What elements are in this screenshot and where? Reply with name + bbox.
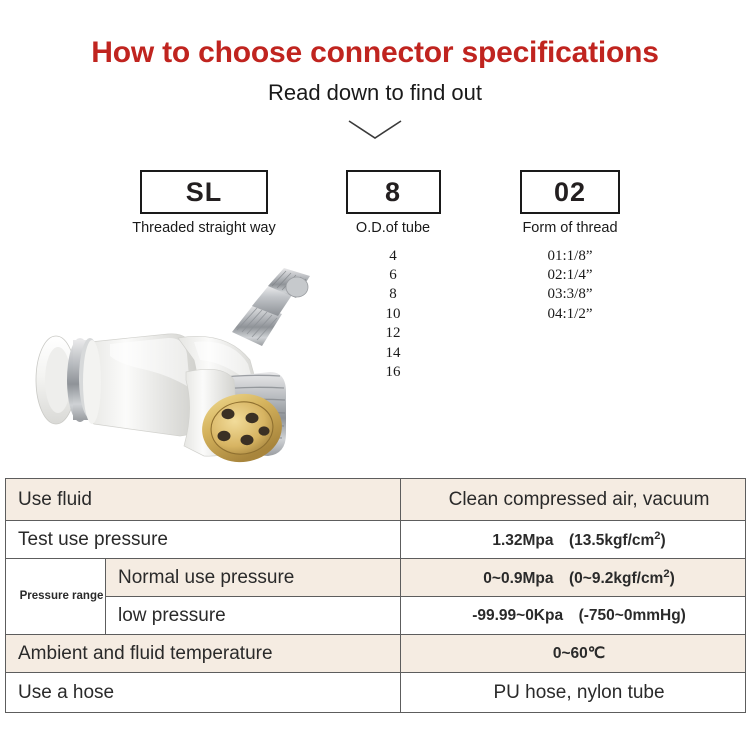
spec-label-hose: Use a hose bbox=[6, 673, 401, 713]
value-main: 0~0.9Mpa (0~9.2kgf/cm bbox=[483, 570, 663, 587]
option-tube-od-2[interactable]: 8 bbox=[333, 285, 453, 304]
option-list-tube-od: 46810121416 bbox=[333, 247, 453, 383]
code-value-thread-form: 02 bbox=[554, 179, 586, 206]
option-tube-od-0[interactable]: 4 bbox=[333, 247, 453, 266]
specification-table: Use fluid Clean compressed air, vacuum T… bbox=[5, 478, 746, 713]
table-row: Use a hose PU hose, nylon tube bbox=[6, 673, 746, 713]
spec-value-use-fluid: Clean compressed air, vacuum bbox=[401, 479, 746, 521]
option-list-thread-form: 01:1/8”02:1/4”03:3/8”04:1/2” bbox=[505, 247, 635, 325]
option-tube-od-4[interactable]: 12 bbox=[333, 324, 453, 343]
code-value-series: SL bbox=[186, 179, 223, 206]
code-box-series[interactable]: SL bbox=[140, 170, 268, 214]
code-value-tube-od: 8 bbox=[385, 179, 401, 206]
table-row: Ambient and fluid temperature 0~60℃ bbox=[6, 635, 746, 673]
option-tube-od-3[interactable]: 10 bbox=[333, 305, 453, 324]
spec-group-label-pressure-range: Pressure range bbox=[6, 559, 106, 635]
spec-value-hose: PU hose, nylon tube bbox=[401, 673, 746, 713]
spec-value-test-pressure: 1.32Mpa (13.5kgf/cm2) bbox=[401, 521, 746, 559]
spec-value-low-pressure: -99.99~0Kpa (-750~0mmHg) bbox=[401, 597, 746, 635]
code-box-tube-od[interactable]: 8 bbox=[346, 170, 441, 214]
chevron-down-icon bbox=[0, 118, 750, 148]
page-title: How to choose connector specifications bbox=[0, 38, 750, 68]
value-main: 1.32Mpa (13.5kgf/cm bbox=[492, 532, 654, 549]
option-tube-od-1[interactable]: 6 bbox=[333, 266, 453, 285]
value-tail: ) bbox=[670, 570, 675, 587]
table-row: low pressure -99.99~0Kpa (-750~0mmHg) bbox=[6, 597, 746, 635]
table-row: Pressure range Normal use pressure 0~0.9… bbox=[6, 559, 746, 597]
spec-label-normal-pressure: Normal use pressure bbox=[106, 559, 401, 597]
option-thread-form-0[interactable]: 01:1/8” bbox=[505, 247, 635, 266]
page-subtitle: Read down to find out bbox=[0, 82, 750, 104]
spec-label-use-fluid: Use fluid bbox=[6, 479, 401, 521]
spec-value-temperature: 0~60℃ bbox=[401, 635, 746, 673]
code-column-tube-od: 8 O.D.of tube 46810121416 bbox=[333, 170, 453, 382]
spec-label-test-pressure: Test use pressure bbox=[6, 521, 401, 559]
table-row: Test use pressure 1.32Mpa (13.5kgf/cm2) bbox=[6, 521, 746, 559]
product-photo bbox=[18, 268, 328, 473]
option-thread-form-3[interactable]: 04:1/2” bbox=[505, 305, 635, 324]
value-tail: ) bbox=[661, 532, 666, 549]
code-label-series: Threaded straight way bbox=[116, 221, 292, 236]
code-label-thread-form: Form of thread bbox=[505, 221, 635, 236]
code-column-series: SL Threaded straight way bbox=[116, 170, 292, 236]
option-tube-od-6[interactable]: 16 bbox=[333, 363, 453, 382]
code-column-thread-form: 02 Form of thread 01:1/8”02:1/4”03:3/8”0… bbox=[505, 170, 635, 324]
code-box-thread-form[interactable]: 02 bbox=[520, 170, 620, 214]
spec-label-low-pressure: low pressure bbox=[106, 597, 401, 635]
page-header: How to choose connector specifications R… bbox=[0, 0, 750, 104]
option-tube-od-5[interactable]: 14 bbox=[333, 344, 453, 363]
table-row: Use fluid Clean compressed air, vacuum bbox=[6, 479, 746, 521]
option-thread-form-2[interactable]: 03:3/8” bbox=[505, 285, 635, 304]
spec-value-normal-pressure: 0~0.9Mpa (0~9.2kgf/cm2) bbox=[401, 559, 746, 597]
spec-label-temperature: Ambient and fluid temperature bbox=[6, 635, 401, 673]
option-thread-form-1[interactable]: 02:1/4” bbox=[505, 266, 635, 285]
code-label-tube-od: O.D.of tube bbox=[333, 221, 453, 236]
